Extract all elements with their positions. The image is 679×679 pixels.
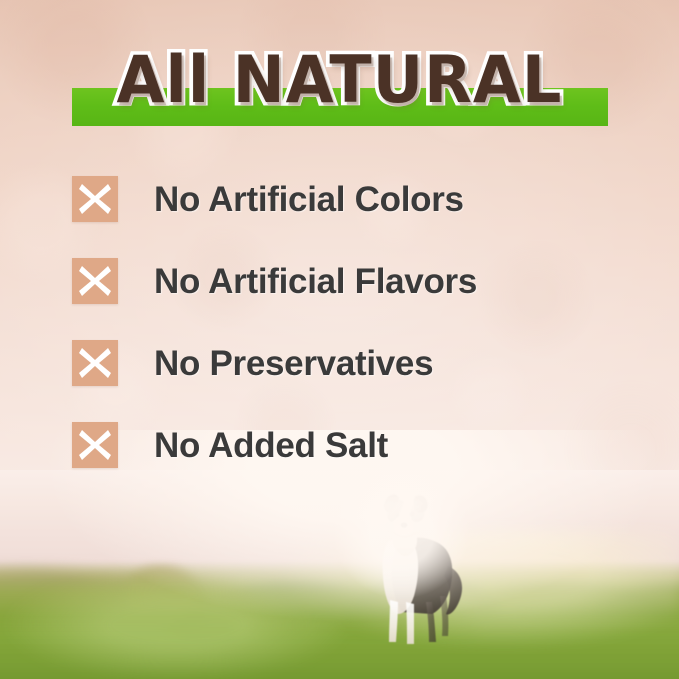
list-item: No Added Salt — [72, 422, 632, 468]
x-mark-icon — [72, 176, 118, 222]
claims-list: No Artificial Colors No Artificial Flavo… — [72, 176, 632, 468]
meadow-dog-photo — [0, 470, 679, 679]
list-item: No Preservatives — [72, 340, 632, 386]
list-item: No Artificial Colors — [72, 176, 632, 222]
page-title: All NATURAL — [0, 48, 679, 113]
list-item: No Artificial Flavors — [72, 258, 632, 304]
claim-label: No Preservatives — [154, 346, 433, 381]
x-mark-icon — [72, 258, 118, 304]
claim-label: No Artificial Colors — [154, 182, 464, 217]
x-mark-icon — [72, 340, 118, 386]
x-mark-icon — [72, 422, 118, 468]
product-feature-poster: All NATURAL No Artificial Colors No Arti… — [0, 0, 679, 679]
claim-label: No Artificial Flavors — [154, 264, 477, 299]
claim-label: No Added Salt — [154, 428, 388, 463]
